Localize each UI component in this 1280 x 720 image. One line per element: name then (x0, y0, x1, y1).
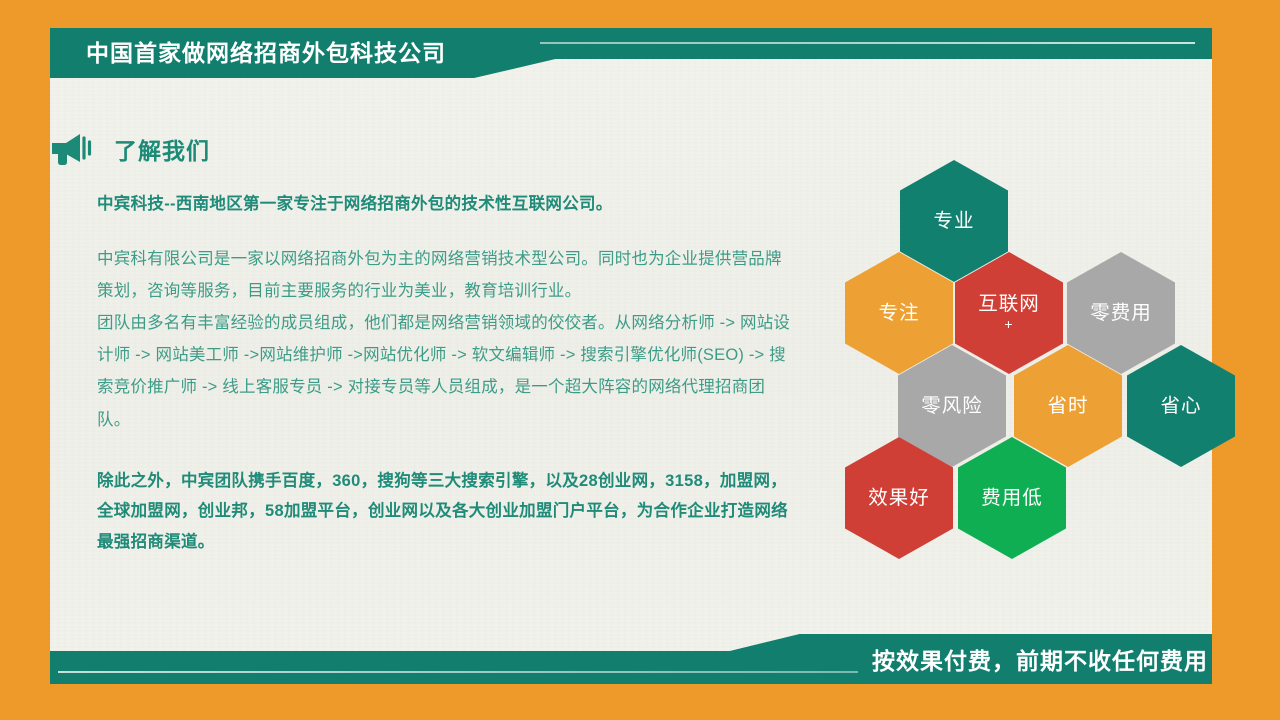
megaphone-icon (50, 132, 92, 166)
section-heading-label: 了解我们 (114, 132, 210, 166)
hex-tile-label: 互联网 (978, 293, 1040, 315)
hex-tile-sublabel: + (1004, 316, 1013, 333)
about-us-body: 中宾科技--西南地区第一家专注于网络招商外包的技术性互联网公司。 中宾科有限公司… (97, 192, 797, 557)
lead-statement: 中宾科技--西南地区第一家专注于网络招商外包的技术性互联网公司。 (97, 192, 797, 217)
slide-root: 中国首家做网络招商外包科技公司 了解我们 中宾科技--西南地区第一家专注于网络招… (0, 0, 1280, 720)
paragraph-company-intro: 中宾科有限公司是一家以网络招商外包为主的网络营销技术型公司。同时也为企业提供营品… (97, 243, 797, 307)
section-heading: 了解我们 (50, 132, 210, 166)
advantages-hex-cluster: 专业专注互联网+零费用零风险省时省心效果好费用低 (836, 160, 1240, 540)
hex-tile-label: 省时 (1047, 395, 1088, 417)
hex-tile-label: 专注 (878, 302, 919, 324)
hex-tile-省心[interactable]: 省心 (1127, 345, 1235, 467)
header-hairline-divider (540, 42, 1195, 44)
footer-hairline-divider (58, 671, 858, 673)
hex-tile-label: 零费用 (1090, 302, 1152, 324)
hex-tile-label: 零风险 (921, 395, 983, 417)
paragraph-partners: 除此之外，中宾团队携手百度，360，搜狗等三大搜索引擎，以及28创业网，3158… (97, 466, 797, 558)
hex-tile-label: 省心 (1160, 395, 1201, 417)
hex-tile-label: 效果好 (868, 487, 930, 509)
hex-tile-label: 费用低 (981, 487, 1043, 509)
hex-tile-label: 专业 (933, 210, 974, 232)
footer-tagline: 按效果付费，前期不收任何费用 (872, 634, 1208, 684)
page-title: 中国首家做网络招商外包科技公司 (86, 28, 446, 78)
paragraph-team-intro: 团队由多名有丰富经验的成员组成，他们都是网络营销领域的佼佼者。从网络分析师 ->… (97, 307, 797, 436)
